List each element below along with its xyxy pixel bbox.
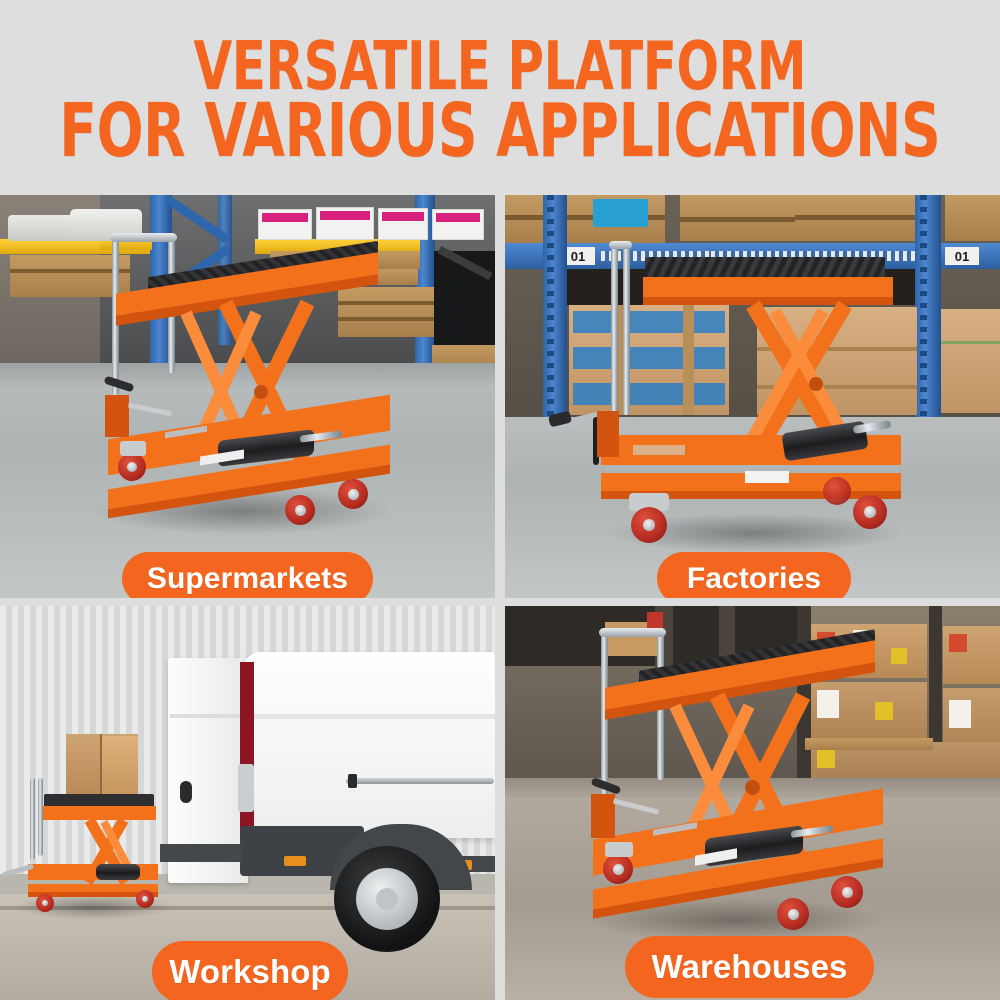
caster-hub [295,505,306,516]
pallet [805,738,933,750]
panel-label-workshop[interactable]: Workshop [152,941,348,1000]
carton-marking [891,648,907,664]
pump-bracket [591,794,615,838]
scene-supermarket [0,195,495,598]
pallet-gap [338,301,434,305]
carton-marking [875,702,893,720]
panel-factories[interactable]: 01 01 [505,195,1000,598]
handle-post-left [30,778,35,860]
panel-supermarkets[interactable]: Supermarkets [0,195,495,598]
crate [941,309,1000,413]
carton-stripe [262,213,308,222]
van-trim-rail [346,778,494,784]
scene-factory: 01 01 [505,195,1000,598]
platform-deck [645,257,885,279]
headline-line-2: FOR VARIOUS APPLICATIONS [59,97,940,166]
handle-crossbar [110,233,177,242]
bay-label-right: 01 [945,247,979,265]
hydraulic-cylinder [96,864,140,880]
label-text: Workshop [169,953,331,991]
caster-hub [42,900,48,906]
caster-hub [864,506,876,518]
crate-strap [941,341,1000,344]
platform-frame [42,806,156,820]
caster-swivel [605,842,633,857]
panel-label-warehouses[interactable]: Warehouses [625,936,874,998]
carton-marking [817,750,835,768]
panel-label-supermarkets[interactable]: Supermarkets [122,552,373,598]
page-title: VERSATILE PLATFORM FOR VARIOUS APPLICATI… [59,35,940,166]
cardboard-box [100,736,138,796]
scissor-pivot [809,377,823,391]
carton-stripe [382,212,424,221]
scissor-pivot [745,780,760,795]
carton-stripe [436,213,480,222]
carton-marking [949,634,967,652]
carton-label [949,700,971,728]
van-light-lens [238,764,254,812]
label-text: Factories [687,562,821,596]
pallet-stack [338,287,434,337]
crate-slat [683,305,694,415]
caster-hub [348,489,359,500]
panel-workshop[interactable]: Workshop [0,606,495,1000]
van-body [244,652,495,838]
pallet-stack [945,195,1000,241]
sill-cladding [160,844,242,862]
pump-bracket [105,395,129,437]
caster-hub [788,909,799,920]
scissor-pivot [254,385,268,399]
blue-bin [593,199,648,227]
handle-post-right [623,243,630,415]
caster-hub [142,896,148,902]
spec-label [745,471,789,483]
platform-frame-edge [643,297,893,305]
caster-hub [127,462,137,472]
header-banner: VERSATILE PLATFORM FOR VARIOUS APPLICATI… [0,0,1000,195]
base-decal [633,445,685,455]
caster-hub [643,519,655,531]
door-crease [170,714,246,718]
caster-wheel [823,477,851,505]
wheel-hub [376,888,398,910]
side-marker-light [284,856,306,866]
label-text: Warehouses [651,948,847,986]
handle-post-right [38,778,43,856]
handle-post-left [611,243,618,421]
caster-swivel [120,441,146,456]
handle-crossbar [609,241,632,249]
caster-hub [842,887,853,898]
caster-hub [613,864,624,875]
carton-stripe [320,211,370,220]
rail-mount [348,774,357,788]
upright-perforation [920,195,927,420]
handle-crossbar [599,628,666,637]
panel-label-factories[interactable]: Factories [657,552,851,598]
panel-warehouses[interactable]: Warehouses [505,606,1000,1000]
box-seam [100,734,102,796]
shrink-wrap [573,311,725,333]
pump-bracket [597,411,619,457]
upright-perforation [547,195,554,420]
shrink-wrap [573,383,725,405]
shrink-wrap [573,347,725,369]
door-handle [180,781,192,803]
application-grid: Supermarkets 01 01 [0,195,1000,1000]
label-text: Supermarkets [147,562,348,596]
rack-upright [915,195,941,420]
pallet-gap [338,317,434,321]
van-body-crease [244,714,495,719]
carton-label [817,690,839,718]
